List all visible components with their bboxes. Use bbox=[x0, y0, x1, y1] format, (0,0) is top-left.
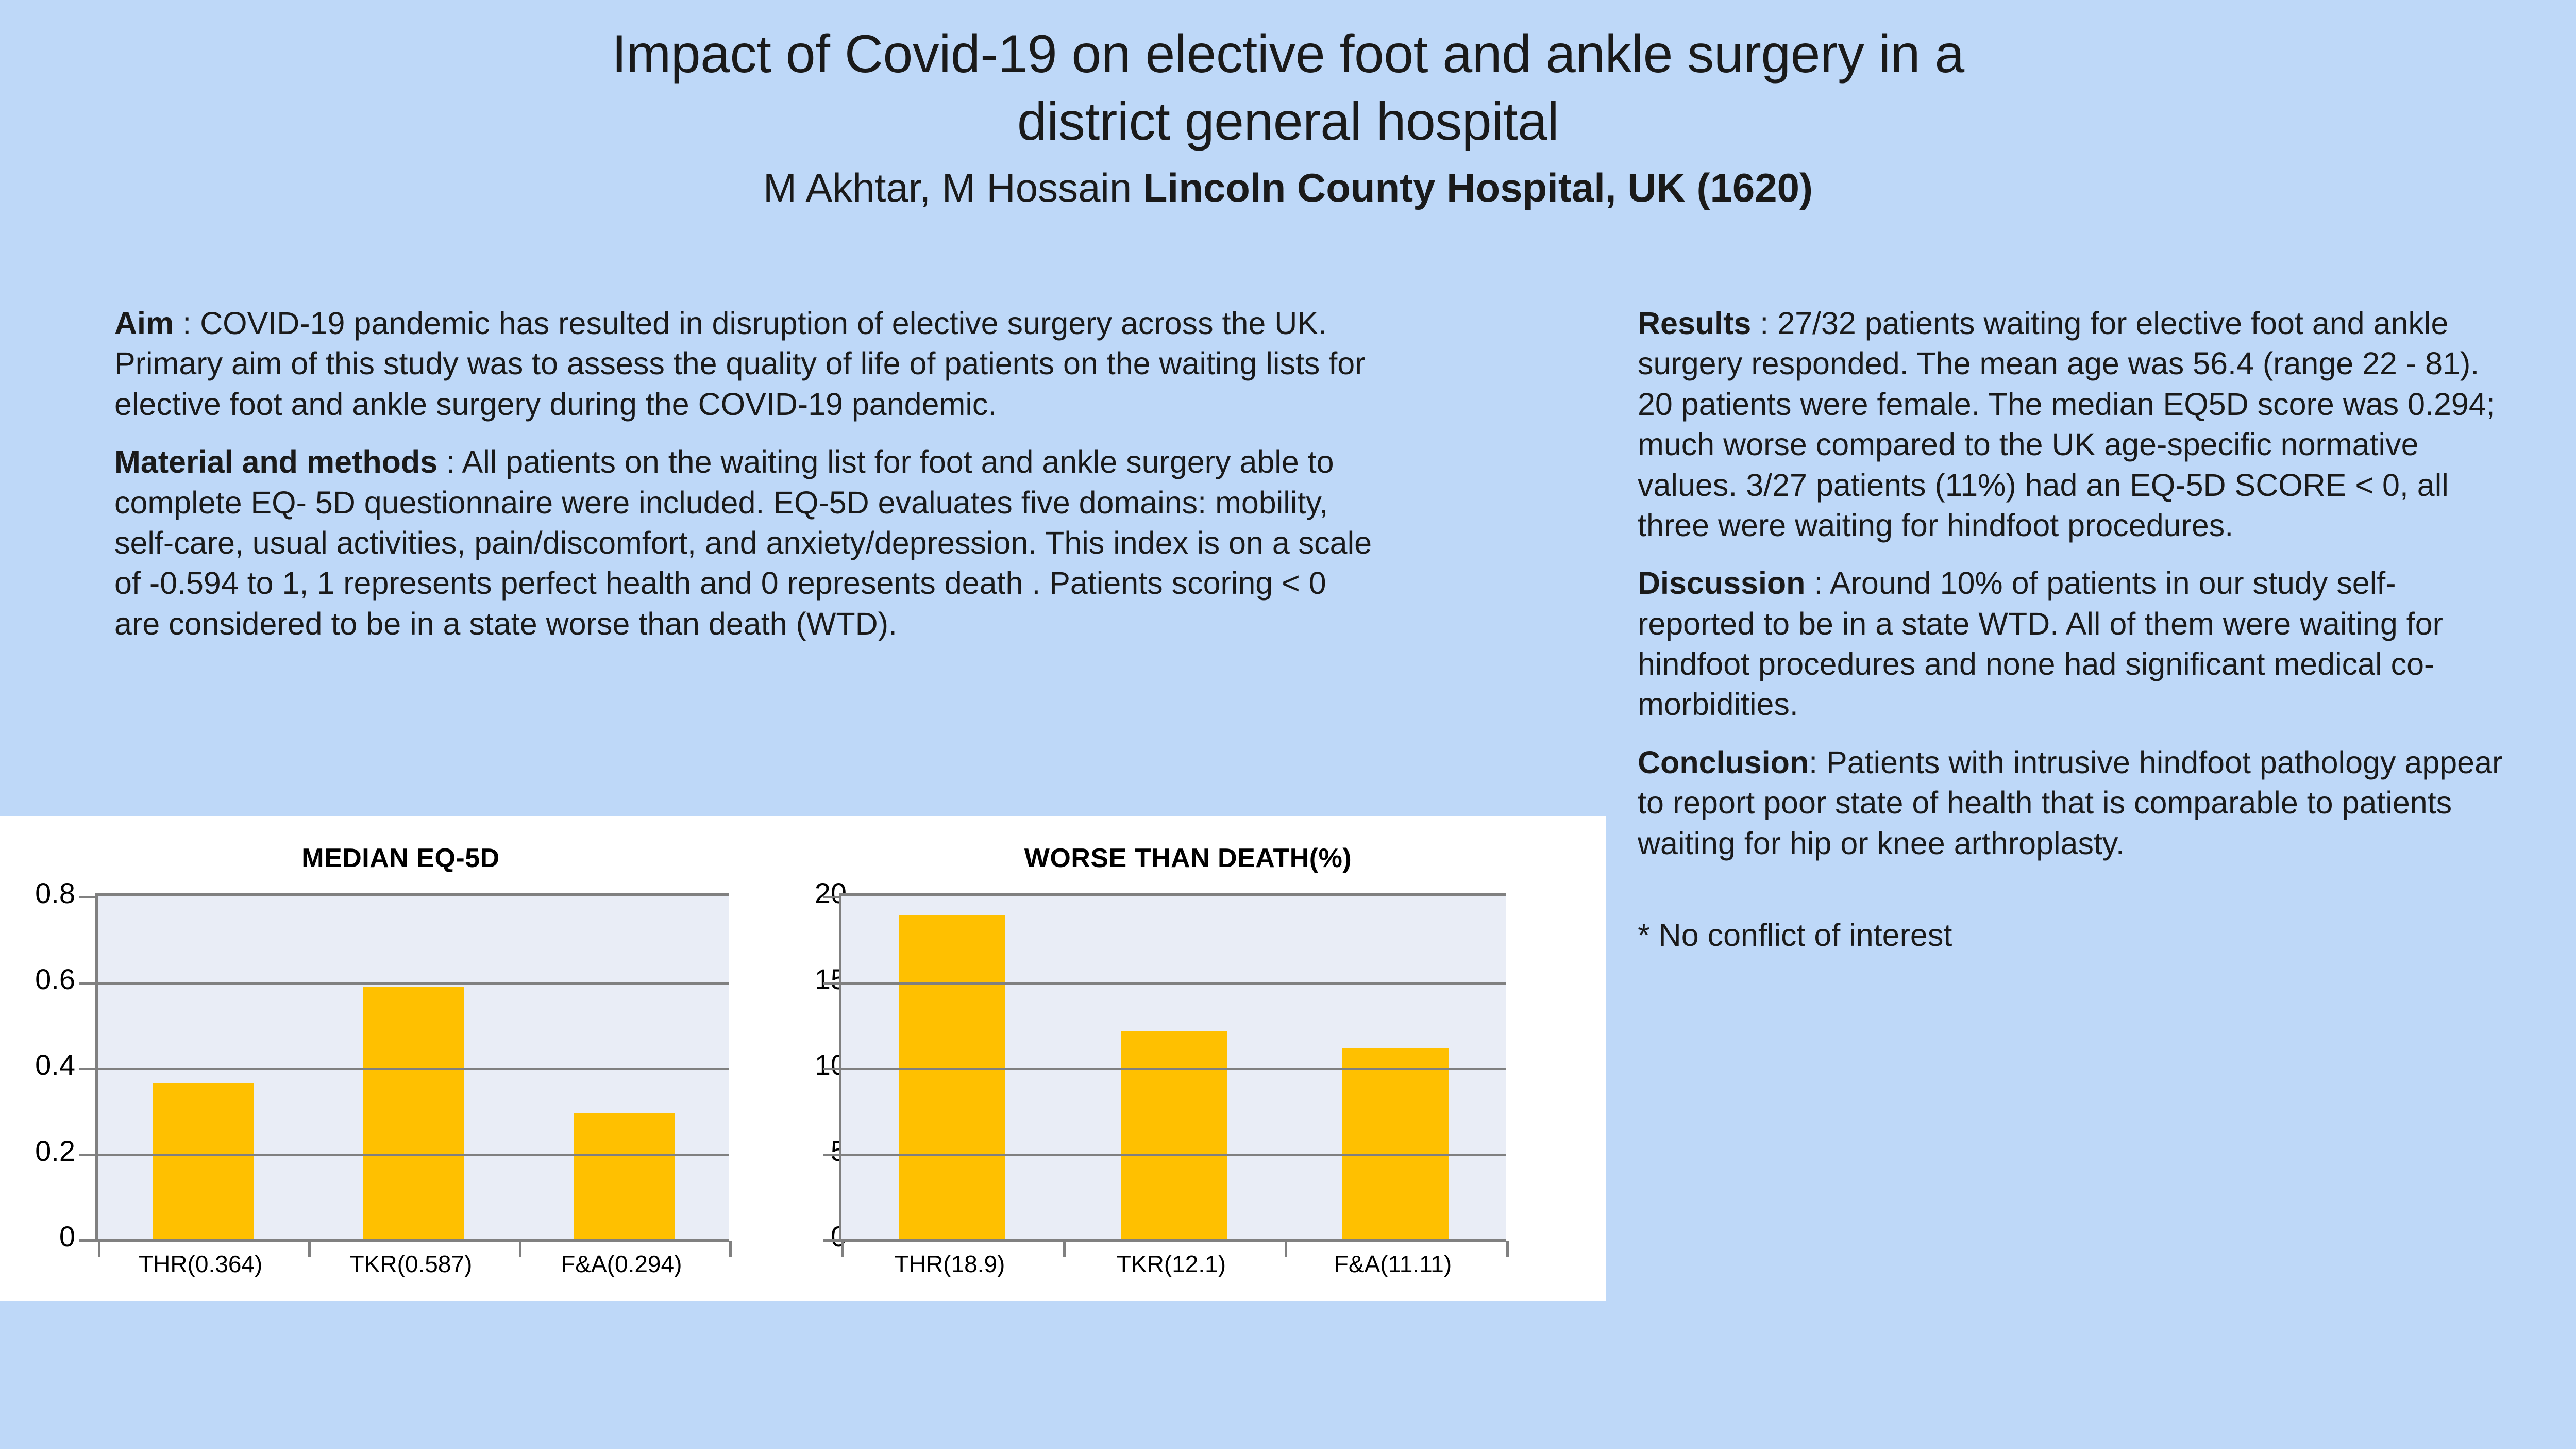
x-axis-category-label: TKR(12.1) bbox=[1060, 1250, 1282, 1278]
byline: M Akhtar, M Hossain Lincoln County Hospi… bbox=[0, 166, 2576, 210]
gridline bbox=[841, 982, 1506, 985]
aim-body: : COVID-19 pandemic has resulted in disr… bbox=[114, 306, 1366, 422]
y-axis-tick-label: 0.6 bbox=[35, 965, 75, 994]
y-axis-tick-label: 0.8 bbox=[35, 879, 75, 908]
bar bbox=[1121, 1031, 1227, 1239]
x-axis-line bbox=[823, 1239, 1506, 1242]
results-paragraph: Results : 27/32 patients waiting for ele… bbox=[1638, 303, 2503, 545]
conflict-of-interest-note: * No conflict of interest bbox=[1638, 915, 2503, 955]
plot-area bbox=[839, 893, 1506, 1239]
y-axis-tick-mark bbox=[823, 896, 841, 898]
results-label: Results bbox=[1638, 306, 1751, 341]
gridline bbox=[841, 1068, 1506, 1070]
aim-label: Aim bbox=[114, 306, 174, 341]
bar bbox=[363, 987, 464, 1239]
page-title-line-2: district general hospital bbox=[0, 88, 2576, 156]
affiliation: Lincoln County Hospital, UK (1620) bbox=[1143, 165, 1813, 210]
poster-header: Impact of Covid-19 on elective foot and … bbox=[0, 21, 2576, 210]
x-axis-category-label: F&A(11.11) bbox=[1282, 1250, 1504, 1278]
methods-paragraph: Material and methods : All patients on t… bbox=[114, 442, 1377, 644]
discussion-paragraph: Discussion : Around 10% of patients in o… bbox=[1638, 563, 2503, 725]
y-axis-tick-mark bbox=[823, 1154, 841, 1156]
y-axis-tick-label: 0.2 bbox=[35, 1137, 75, 1165]
x-axis-category-label: THR(0.364) bbox=[95, 1250, 306, 1278]
results-body: : 27/32 patients waiting for elective fo… bbox=[1638, 306, 2495, 543]
x-axis-labels: THR(0.364)TKR(0.587)F&A(0.294) bbox=[95, 1250, 727, 1278]
y-axis-tick-mark bbox=[79, 896, 98, 898]
x-axis-category-label: THR(18.9) bbox=[839, 1250, 1060, 1278]
paragraph-spacer bbox=[1638, 881, 2503, 915]
bar bbox=[1342, 1048, 1449, 1239]
chart-title: MEDIAN EQ-5D bbox=[0, 843, 750, 874]
gridline bbox=[98, 1068, 729, 1070]
x-axis-tick-mark bbox=[729, 1241, 732, 1257]
bar bbox=[574, 1113, 675, 1239]
y-axis-tick-label: 0 bbox=[59, 1222, 75, 1251]
bar bbox=[899, 915, 1005, 1239]
y-axis-tick-mark bbox=[823, 982, 841, 985]
right-text-column: Results : 27/32 patients waiting for ele… bbox=[1638, 303, 2503, 973]
aim-paragraph: Aim : COVID-19 pandemic has resulted in … bbox=[114, 303, 1377, 424]
x-axis-category-label: TKR(0.587) bbox=[306, 1250, 516, 1278]
conclusion-paragraph: Conclusion: Patients with intrusive hind… bbox=[1638, 742, 2503, 863]
charts-panel: MEDIAN EQ-5D 0.80.60.40.20 THR(0.364)TKR… bbox=[0, 816, 1606, 1301]
y-axis-tick-mark bbox=[79, 982, 98, 985]
y-axis-tick-mark bbox=[823, 1068, 841, 1070]
x-axis-tick-mark bbox=[1506, 1241, 1509, 1257]
plot-area bbox=[95, 893, 729, 1239]
y-axis-labels: 0.80.60.40.20 bbox=[4, 893, 81, 1237]
x-axis-labels: THR(18.9)TKR(12.1)F&A(11.11) bbox=[839, 1250, 1504, 1278]
x-axis-category-label: F&A(0.294) bbox=[516, 1250, 727, 1278]
y-axis-tick-label: 0.4 bbox=[35, 1051, 75, 1079]
gridline bbox=[841, 1154, 1506, 1156]
discussion-label: Discussion bbox=[1638, 565, 1805, 601]
left-text-column: Aim : COVID-19 pandemic has resulted in … bbox=[114, 303, 1377, 661]
gridline bbox=[98, 982, 729, 985]
chart-title: WORSE THAN DEATH(%) bbox=[750, 843, 1606, 874]
gridline bbox=[98, 1154, 729, 1156]
y-axis-tick-mark bbox=[79, 1068, 98, 1070]
methods-label: Material and methods bbox=[114, 444, 437, 479]
chart-median-eq5d: MEDIAN EQ-5D 0.80.60.40.20 THR(0.364)TKR… bbox=[0, 816, 750, 1301]
bar bbox=[153, 1083, 254, 1239]
conclusion-label: Conclusion bbox=[1638, 745, 1809, 780]
y-axis-tick-mark bbox=[79, 1154, 98, 1156]
chart-worse-than-death: WORSE THAN DEATH(%) 20151050 THR(18.9)TK… bbox=[750, 816, 1606, 1301]
page-title-line-1: Impact of Covid-19 on elective foot and … bbox=[0, 21, 2576, 88]
author-names: M Akhtar, M Hossain bbox=[763, 165, 1143, 210]
x-axis-line bbox=[79, 1239, 729, 1242]
